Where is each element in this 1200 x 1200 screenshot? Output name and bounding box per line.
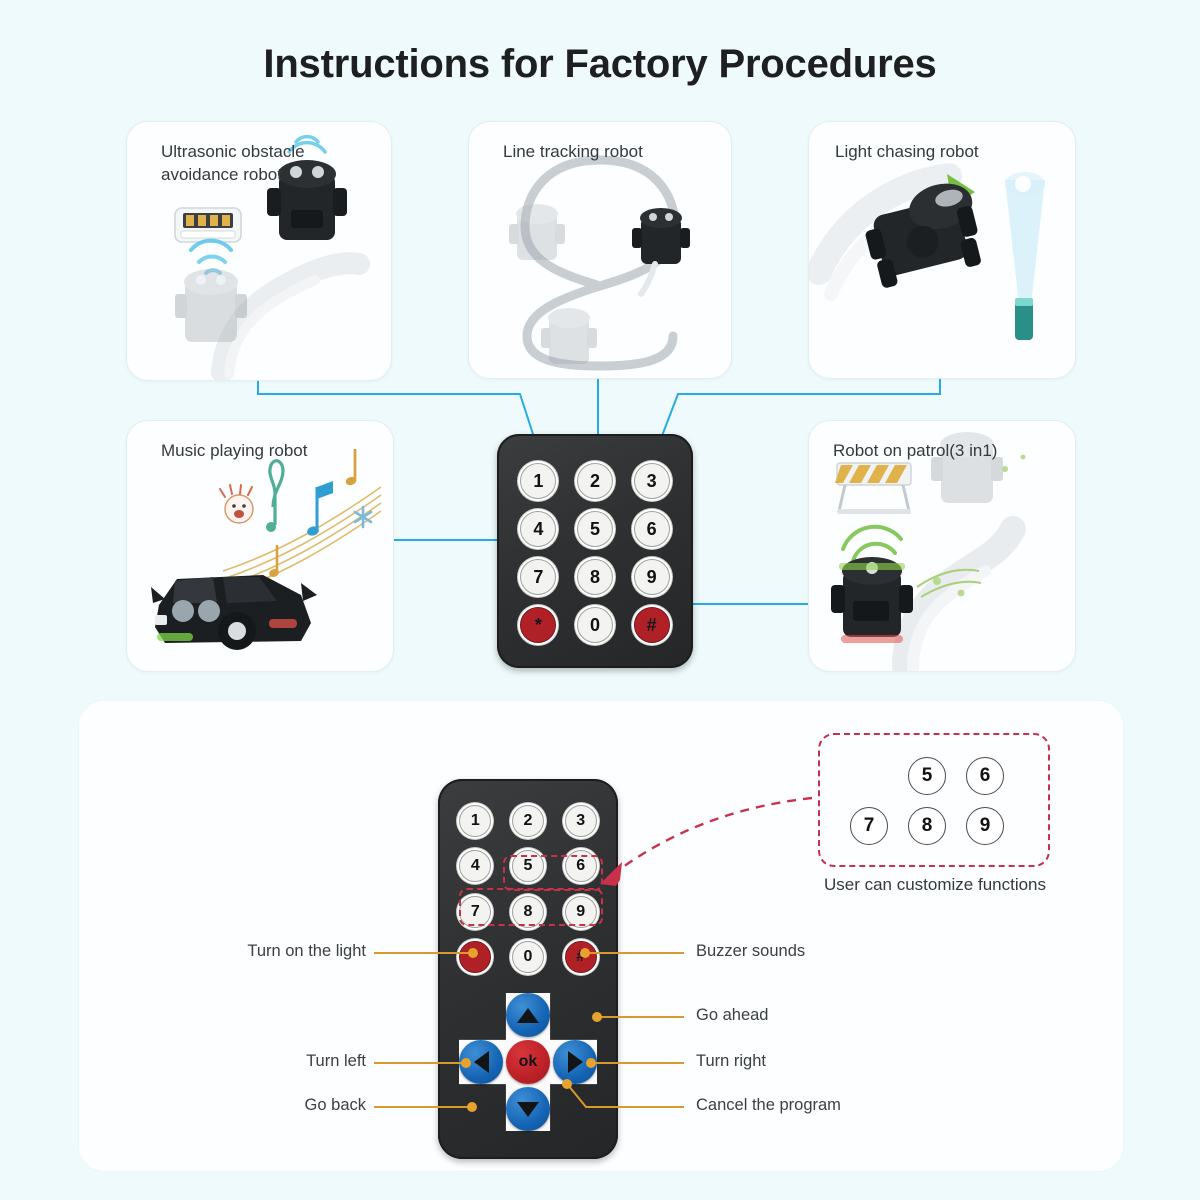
key-3[interactable]: 3 <box>565 805 597 837</box>
dpad-left-button[interactable] <box>459 1040 503 1084</box>
card-ultrasonic-robot[interactable]: Ultrasonic obstacle avoidance robot <box>126 121 392 381</box>
key-9[interactable]: 9 <box>634 559 670 595</box>
dpad-up-button[interactable] <box>506 993 550 1037</box>
key-0[interactable]: 0 <box>577 607 613 643</box>
remote-small[interactable]: 1 2 3 4 5 6 7 8 9 * 0 # <box>497 434 693 668</box>
key-0[interactable]: 0 <box>512 941 544 973</box>
key-star[interactable]: * <box>520 607 556 643</box>
callout-key-5[interactable]: 5 <box>908 757 946 795</box>
card-label-ultrasonic: Ultrasonic obstacle avoidance robot <box>161 141 305 187</box>
annotation-turn-right: Turn right <box>696 1052 766 1071</box>
card-label-line-tracking: Line tracking robot <box>503 141 643 164</box>
dpad-right-button[interactable] <box>553 1040 597 1084</box>
down-triangle-icon <box>517 1102 539 1117</box>
up-triangle-icon <box>517 1008 539 1023</box>
customize-callout-box: 5 6 7 8 9 <box>818 733 1050 867</box>
annotation-turn-left: Turn left <box>120 1052 366 1071</box>
key-hash[interactable]: # <box>565 941 597 973</box>
card-label-patrol-robot: Robot on patrol(3 in1) <box>833 440 997 463</box>
annotation-go-back: Go back <box>120 1096 366 1115</box>
key-1[interactable]: 1 <box>520 463 556 499</box>
key-4[interactable]: 4 <box>459 850 491 882</box>
annotation-turn-on-the-light: Turn on the light <box>120 942 366 961</box>
dpad-down-button[interactable] <box>506 1087 550 1131</box>
page-title: Instructions for Factory Procedures <box>0 42 1200 87</box>
callout-key-6[interactable]: 6 <box>966 757 1004 795</box>
left-triangle-icon <box>474 1051 489 1073</box>
customizable-keys-highlight-row2 <box>459 888 603 926</box>
dpad[interactable]: ok <box>459 993 597 1131</box>
key-6[interactable]: 6 <box>634 511 670 547</box>
key-3[interactable]: 3 <box>634 463 670 499</box>
annotation-cancel-the-program: Cancel the program <box>696 1096 841 1115</box>
infographic-stage: Instructions for Factory Procedures <box>0 0 1200 1200</box>
callout-key-8[interactable]: 8 <box>908 807 946 845</box>
annotation-go-ahead: Go ahead <box>696 1006 768 1025</box>
callout-key-9[interactable]: 9 <box>966 807 1004 845</box>
card-music-playing-robot[interactable]: Music playing robot <box>126 420 394 672</box>
key-5[interactable]: 5 <box>577 511 613 547</box>
key-hash[interactable]: # <box>634 607 670 643</box>
key-star[interactable]: * <box>459 941 491 973</box>
card-line-tracking-robot[interactable]: Line tracking robot <box>468 121 732 379</box>
card-label-light-chasing: Light chasing robot <box>835 141 979 164</box>
customize-callout-caption: User can customize functions <box>790 875 1080 895</box>
key-4[interactable]: 4 <box>520 511 556 547</box>
customizable-keys-highlight <box>503 855 603 891</box>
card-light-chasing-robot[interactable]: Light chasing robot <box>808 121 1076 379</box>
key-1[interactable]: 1 <box>459 805 491 837</box>
key-2[interactable]: 2 <box>512 805 544 837</box>
right-triangle-icon <box>568 1051 583 1073</box>
dpad-ok-button[interactable]: ok <box>506 1040 550 1084</box>
key-8[interactable]: 8 <box>577 559 613 595</box>
remote-small-keypad: 1 2 3 4 5 6 7 8 9 * 0 # <box>511 458 679 648</box>
key-7[interactable]: 7 <box>520 559 556 595</box>
key-2[interactable]: 2 <box>577 463 613 499</box>
callout-key-7[interactable]: 7 <box>850 807 888 845</box>
annotation-buzzer-sounds: Buzzer sounds <box>696 942 805 961</box>
card-patrol-robot[interactable]: Robot on patrol(3 in1) <box>808 420 1076 672</box>
card-label-music-robot: Music playing robot <box>161 440 307 463</box>
